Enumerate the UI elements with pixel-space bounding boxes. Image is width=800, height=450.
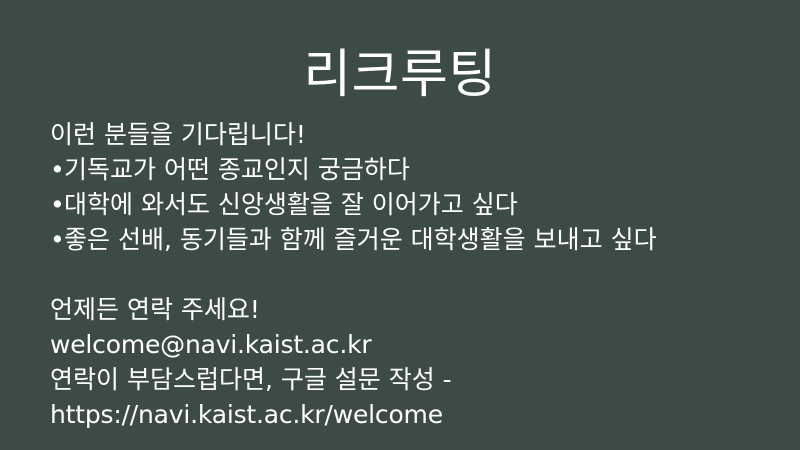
bullet-icon: • (50, 222, 64, 257)
bullet-icon: • (50, 152, 64, 187)
survey-note: 연락이 부담스럽다면, 구글 설문 작성 - (50, 362, 770, 397)
invite-block: 이런 분들을 기다립니다! •기독교가 어떤 종교인지 궁금하다 •대학에 와서… (50, 117, 770, 257)
list-item-label: 좋은 선배, 동기들과 함께 즐거운 대학생활을 보내고 싶다 (64, 225, 657, 254)
page-title: 리크루팅 (0, 44, 800, 106)
list-item: •기독교가 어떤 종교인지 궁금하다 (50, 152, 770, 187)
list-item: •대학에 와서도 신앙생활을 잘 이어가고 싶다 (50, 187, 770, 222)
bullet-icon: • (50, 187, 64, 222)
list-item-label: 기독교가 어떤 종교인지 궁금하다 (64, 155, 410, 184)
contact-block: 언제든 연락 주세요! welcome@navi.kaist.ac.kr 연락이… (50, 292, 770, 432)
contact-heading: 언제든 연락 주세요! (50, 292, 770, 327)
invite-heading: 이런 분들을 기다립니다! (50, 117, 770, 152)
list-item: •좋은 선배, 동기들과 함께 즐거운 대학생활을 보내고 싶다 (50, 222, 770, 257)
survey-url[interactable]: https://navi.kaist.ac.kr/welcome (50, 397, 770, 432)
contact-email[interactable]: welcome@navi.kaist.ac.kr (50, 327, 770, 362)
recruiting-slide: 리크루팅 이런 분들을 기다립니다! •기독교가 어떤 종교인지 궁금하다 •대… (0, 0, 800, 450)
list-item-label: 대학에 와서도 신앙생활을 잘 이어가고 싶다 (64, 190, 518, 219)
